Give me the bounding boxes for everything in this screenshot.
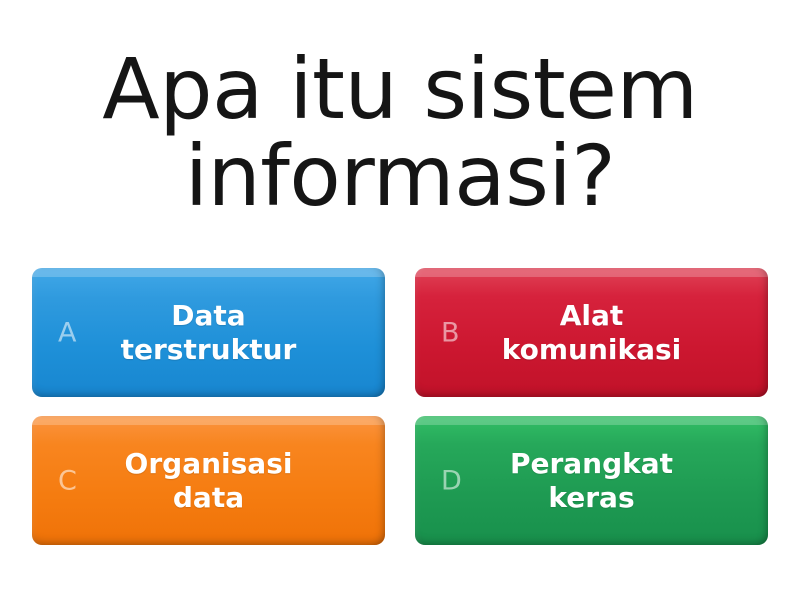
answer-face-d: D Perangkat keras xyxy=(415,416,768,545)
answer-option-d[interactable]: D Perangkat keras xyxy=(415,416,768,552)
answer-label-d: Perangkat keras xyxy=(456,447,727,513)
answer-face-b: B Alat komunikasi xyxy=(415,268,768,397)
answer-label-a: Data terstruktur xyxy=(67,299,351,365)
answer-label-c: Organisasi data xyxy=(71,447,347,513)
answer-face-c: C Organisasi data xyxy=(32,416,385,545)
question-text: Apa itu sistem informasi? xyxy=(102,46,697,221)
answer-label-b: Alat komunikasi xyxy=(448,299,736,365)
answer-option-c[interactable]: C Organisasi data xyxy=(32,416,385,552)
answer-option-a[interactable]: A Data terstruktur xyxy=(32,268,385,404)
answer-option-b[interactable]: B Alat komunikasi xyxy=(415,268,768,404)
answer-face-a: A Data terstruktur xyxy=(32,268,385,397)
question-area: Apa itu sistem informasi? xyxy=(0,18,800,248)
answers-grid: A Data terstruktur B Alat komunikasi C O… xyxy=(32,268,768,552)
quiz-screen: Apa itu sistem informasi? A Data terstru… xyxy=(0,0,800,600)
